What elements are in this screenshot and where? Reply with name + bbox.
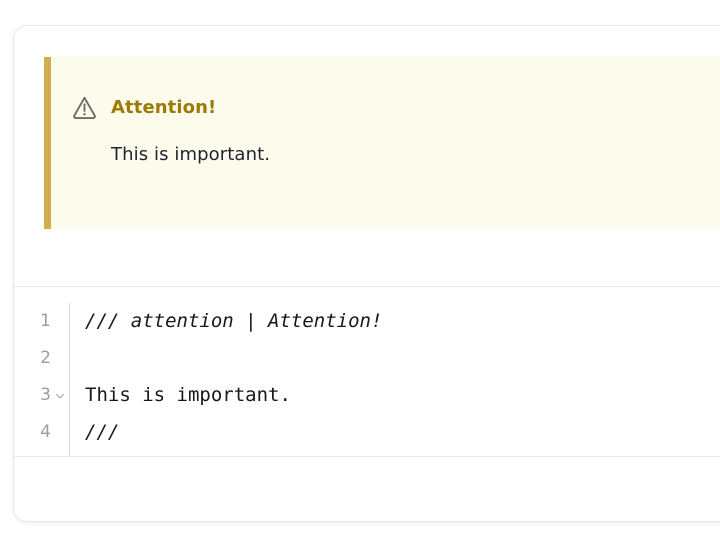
line-number: 1: [40, 313, 51, 330]
warning-triangle-icon: [71, 94, 98, 121]
gutter-row: 2: [14, 340, 69, 377]
line-number: 3: [40, 387, 51, 404]
line-number: 2: [40, 350, 51, 367]
gutter-row: 3: [14, 377, 69, 414]
gutter-row: 1: [14, 303, 69, 340]
line-number: 4: [40, 424, 51, 441]
admonition-preview-card: Attention! This is important. 1 2 3: [13, 25, 720, 522]
chevron-down-icon[interactable]: [55, 391, 65, 401]
admonition-body-text: This is important.: [51, 121, 720, 167]
source-code-pane: 1 2 3 4: [14, 287, 720, 457]
code-line: ///: [85, 414, 720, 451]
code-line: /// attention | Attention!: [85, 303, 720, 340]
code-line: [85, 340, 720, 377]
attention-admonition: Attention! This is important.: [44, 57, 720, 229]
code-line: This is important.: [85, 377, 720, 414]
card-footer: [14, 457, 720, 519]
admonition-title: Attention!: [111, 99, 216, 117]
rendered-preview-pane: Attention! This is important.: [14, 26, 720, 287]
line-number-gutter: 1 2 3 4: [14, 303, 70, 456]
admonition-header: Attention!: [51, 57, 720, 121]
code-text-area[interactable]: /// attention | Attention! This is impor…: [70, 303, 720, 456]
gutter-row: 4: [14, 414, 69, 451]
